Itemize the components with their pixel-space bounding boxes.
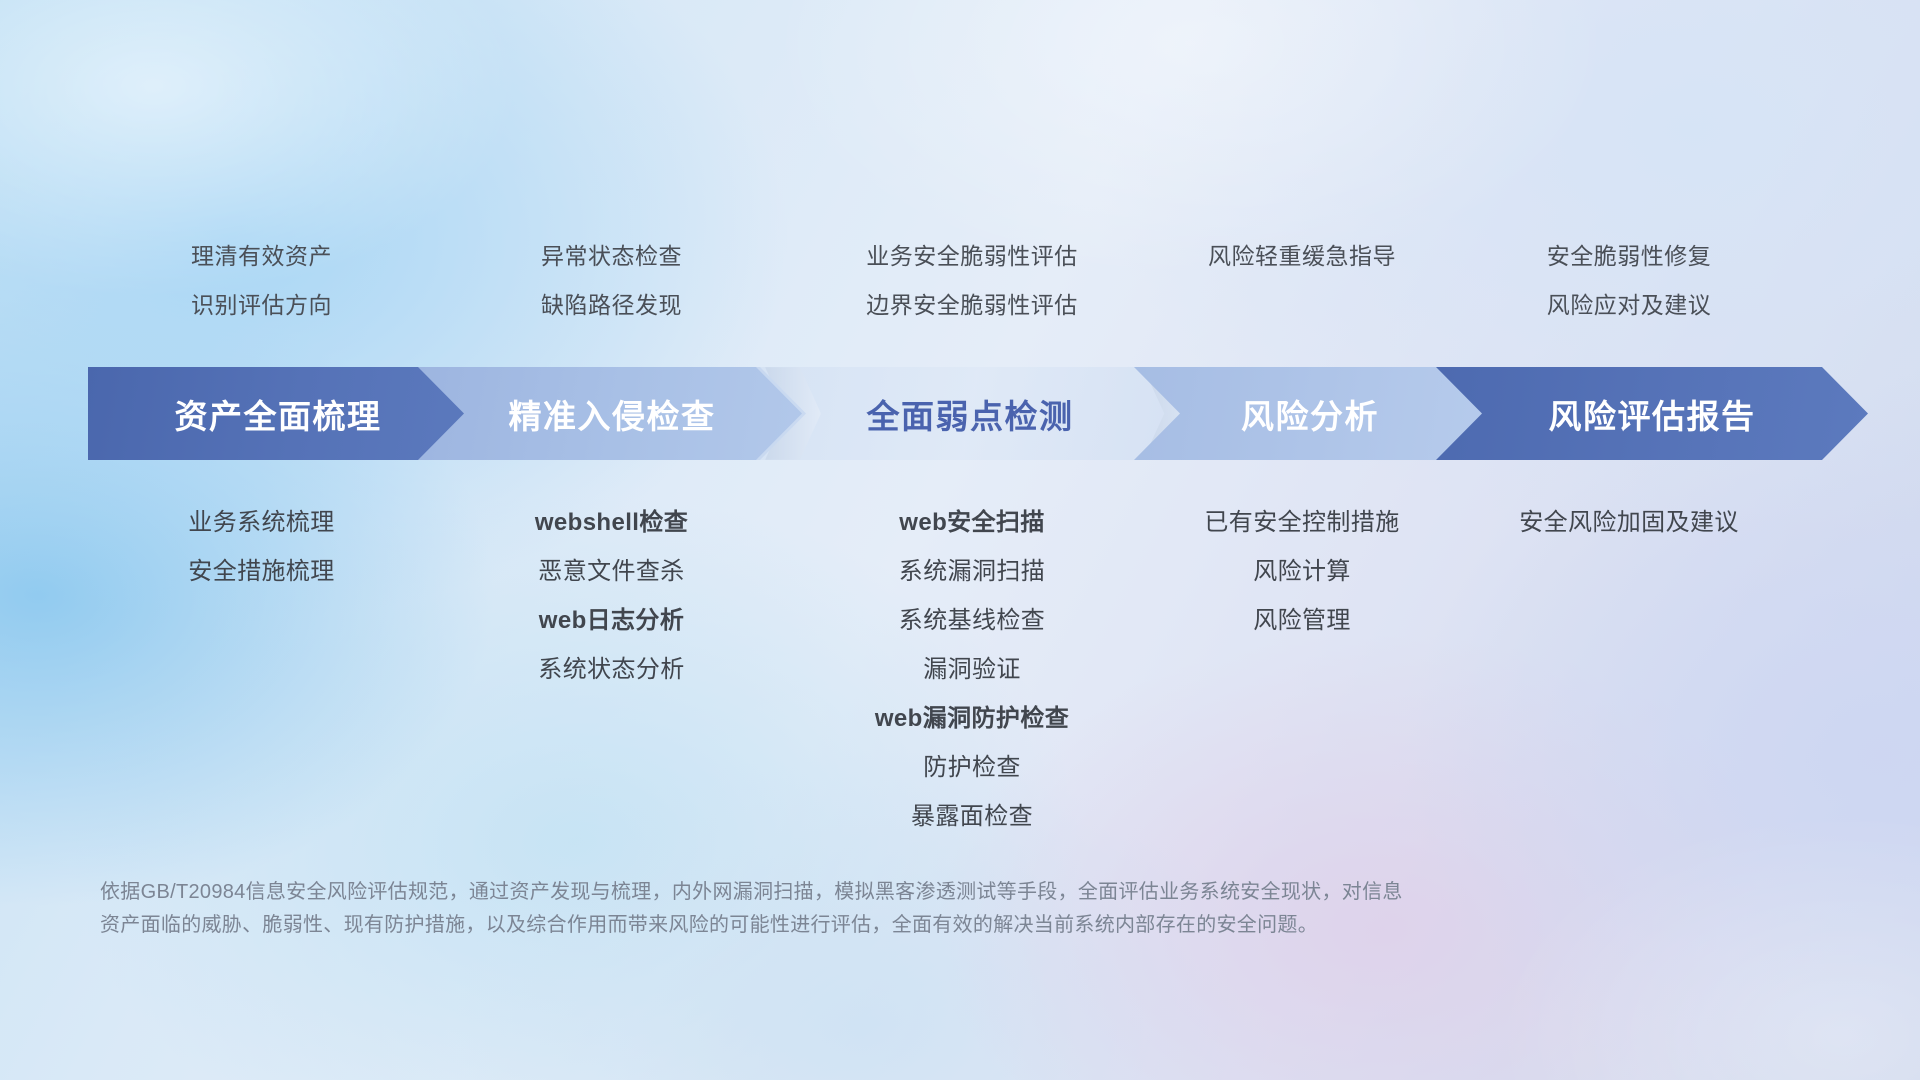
top-note: 理清有效资产: [88, 232, 435, 281]
stage-title: 精准入侵检查: [509, 390, 716, 438]
top-notes-column-4: 风险轻重缓急指导: [1156, 232, 1448, 330]
detail-item: 安全措施梳理: [88, 547, 435, 596]
stage-title: 全面弱点检测: [867, 390, 1074, 438]
top-note: 边界安全脆弱性评估: [788, 281, 1156, 330]
detail-item: 系统状态分析: [435, 645, 788, 694]
detail-list-risk-analysis: 已有安全控制措施风险计算风险管理: [1156, 498, 1448, 645]
top-note: 识别评估方向: [88, 281, 435, 330]
process-flow-diagram: 理清有效资产 识别评估方向 异常状态检查 缺陷路径发现 业务安全脆弱性评估 边界…: [0, 0, 1920, 1080]
detail-item: webshell检查: [435, 498, 788, 547]
footer-line: 依据GB/T20984信息安全风险评估规范，通过资产发现与梳理，内外网漏洞扫描，…: [100, 876, 1610, 909]
detail-list-intrusion-check: webshell检查恶意文件查杀web日志分析系统状态分析: [435, 498, 788, 694]
detail-list-weakness-detection: web安全扫描系统漏洞扫描系统基线检查漏洞验证web漏洞防护检查防护检查暴露面检…: [788, 498, 1156, 841]
detail-item: web日志分析: [435, 596, 788, 645]
detail-item: 已有安全控制措施: [1156, 498, 1448, 547]
stage-chevron-asset-inventory[interactable]: 资产全面梳理: [88, 367, 468, 460]
detail-item: web安全扫描: [788, 498, 1156, 547]
top-note: 风险轻重缓急指导: [1156, 232, 1448, 281]
footer-description: 依据GB/T20984信息安全风险评估规范，通过资产发现与梳理，内外网漏洞扫描，…: [100, 876, 1610, 942]
detail-item: 防护检查: [788, 743, 1156, 792]
detail-item: 系统漏洞扫描: [788, 547, 1156, 596]
detail-item: web漏洞防护检查: [788, 694, 1156, 743]
top-note: 缺陷路径发现: [435, 281, 788, 330]
top-notes-column-5: 安全脆弱性修复 风险应对及建议: [1448, 232, 1810, 330]
top-note: 业务安全脆弱性评估: [788, 232, 1156, 281]
stage-chevron-risk-analysis[interactable]: 风险分析: [1134, 367, 1486, 460]
top-note: 安全脆弱性修复: [1448, 232, 1810, 281]
detail-item: 风险计算: [1156, 547, 1448, 596]
footer-line: 资产面临的威胁、脆弱性、现有防护措施，以及综合作用而带来风险的可能性进行评估，全…: [100, 909, 1610, 942]
stage-detail-lists: 业务系统梳理安全措施梳理 webshell检查恶意文件查杀web日志分析系统状态…: [88, 498, 1860, 841]
detail-item: 漏洞验证: [788, 645, 1156, 694]
detail-item: 风险管理: [1156, 596, 1448, 645]
detail-item: 暴露面检查: [788, 792, 1156, 841]
top-notes-row: 理清有效资产 识别评估方向 异常状态检查 缺陷路径发现 业务安全脆弱性评估 边界…: [88, 232, 1860, 330]
top-notes-column-3: 业务安全脆弱性评估 边界安全脆弱性评估: [788, 232, 1156, 330]
detail-item: 系统基线检查: [788, 596, 1156, 645]
top-note: 风险应对及建议: [1448, 281, 1810, 330]
stage-chevron-risk-report[interactable]: 风险评估报告: [1436, 367, 1868, 460]
top-notes-column-2: 异常状态检查 缺陷路径发现: [435, 232, 788, 330]
stage-chevron-intrusion-check[interactable]: 精准入侵检查: [418, 367, 806, 460]
top-note: 异常状态检查: [435, 232, 788, 281]
detail-list-asset-inventory: 业务系统梳理安全措施梳理: [88, 498, 435, 596]
stage-title: 风险评估报告: [1549, 390, 1756, 438]
top-notes-column-1: 理清有效资产 识别评估方向: [88, 232, 435, 330]
detail-item: 恶意文件查杀: [435, 547, 788, 596]
stage-title: 风险分析: [1241, 390, 1379, 438]
stage-chevron-banner: 资产全面梳理 精准入侵检查 全面弱点检测 风险分析 风险评估报告: [88, 367, 1868, 460]
detail-item: 安全风险加固及建议: [1448, 498, 1810, 547]
stage-title: 资产全面梳理: [175, 390, 382, 438]
detail-item: 业务系统梳理: [88, 498, 435, 547]
stage-chevron-weakness-detection[interactable]: 全面弱点检测: [756, 367, 1184, 460]
detail-list-risk-report: 安全风险加固及建议: [1448, 498, 1810, 547]
